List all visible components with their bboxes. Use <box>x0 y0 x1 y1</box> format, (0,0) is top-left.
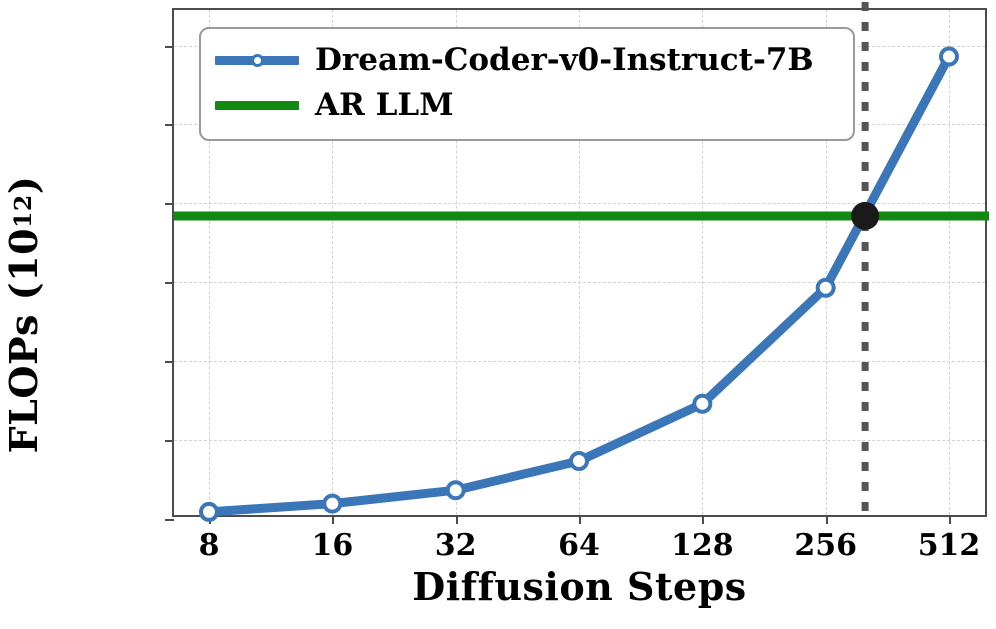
data-point-marker <box>324 496 340 512</box>
y-tick-mark <box>165 361 174 363</box>
y-tick-mark <box>165 519 174 521</box>
data-point-marker <box>201 504 217 520</box>
legend-label-ar-llm: AR LLM <box>315 90 454 121</box>
y-tick-mark <box>165 282 174 284</box>
data-point-marker <box>694 396 710 412</box>
plot-area: 81632641282565120.02.04.06.08.010.012.0 … <box>172 8 987 517</box>
x-axis-title: Diffusion Steps <box>172 564 987 609</box>
legend-item-ar-llm: AR LLM <box>215 83 839 128</box>
y-axis-title-prefix: FLOPs (10 <box>1 228 46 453</box>
data-point-marker <box>571 453 587 469</box>
crossover-point-marker <box>851 202 879 230</box>
x-tick-label: 512 <box>869 531 996 561</box>
data-point-marker <box>818 280 834 296</box>
data-point-marker <box>448 482 464 498</box>
y-axis-title-suffix: ) <box>1 176 46 194</box>
y-tick-mark <box>165 440 174 442</box>
legend-label-dream-coder: Dream-Coder-v0-Instruct-7B <box>315 45 814 76</box>
chart-figure: FLOPs (1012) Diffusion Steps 81632641282… <box>0 0 996 629</box>
y-axis-title: FLOPs (1012) <box>0 0 54 629</box>
legend-item-dream-coder: Dream-Coder-v0-Instruct-7B <box>215 38 839 83</box>
legend-swatch-ar-llm <box>215 86 299 126</box>
y-tick-mark <box>165 203 174 205</box>
chart-legend: Dream-Coder-v0-Instruct-7B AR LLM <box>199 27 855 141</box>
y-tick-mark <box>165 124 174 126</box>
data-point-marker <box>941 49 957 65</box>
y-tick-mark <box>165 46 174 48</box>
legend-line-ar-llm <box>215 101 299 110</box>
legend-swatch-dream-coder <box>215 41 299 81</box>
legend-marker-dream-coder <box>251 54 264 67</box>
